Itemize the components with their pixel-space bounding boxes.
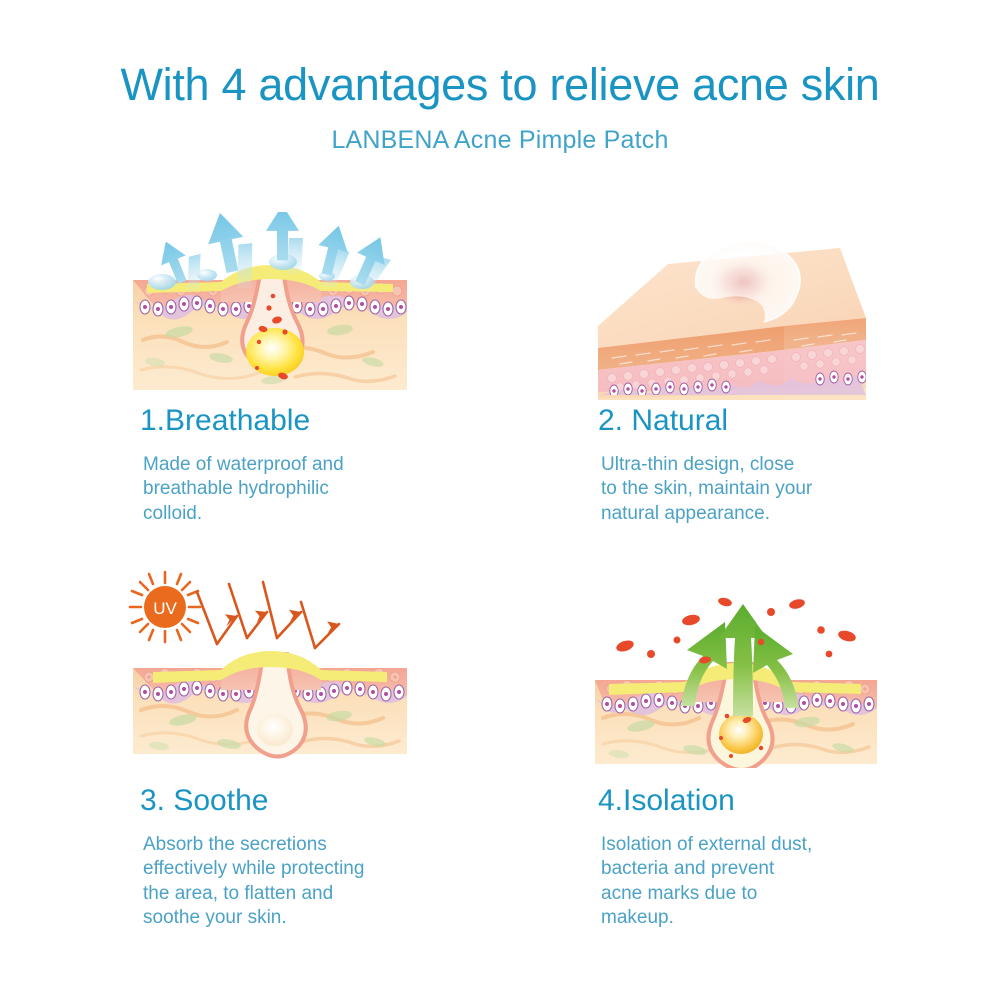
skin-cross-section-breathable-illustration	[125, 212, 415, 397]
feature-heading-soothe: 3. Soothe	[140, 786, 268, 816]
feature-card-natural: 2. Natural Ultra-thin design, close to t…	[500, 200, 1000, 560]
feature-heading-isolation: 4.Isolation	[598, 786, 735, 816]
feature-heading-breathable: 1.Breathable	[140, 406, 310, 436]
page-title: With 4 advantages to relieve acne skin	[0, 0, 1000, 107]
skin-cross-section-isolation-illustration	[585, 568, 885, 768]
feature-body-breathable: Made of waterproof and breathable hydrop…	[143, 453, 433, 526]
feature-card-soothe: UV 3. Soothe Absorb the secretions effec…	[0, 560, 500, 960]
feature-body-natural: Ultra-thin design, close to the skin, ma…	[601, 453, 891, 526]
feature-heading-natural: 2. Natural	[598, 406, 728, 436]
uv-ray-group	[197, 582, 339, 648]
skin-block-natural-patch-illustration	[590, 230, 880, 400]
feature-body-isolation: Isolation of external dust, bacteria and…	[601, 833, 891, 930]
header: With 4 advantages to relieve acne skin L…	[0, 0, 1000, 153]
skin-cross-section-uv-soothe-illustration: UV	[125, 568, 415, 768]
feature-card-isolation: 4.Isolation Isolation of external dust, …	[500, 560, 1000, 960]
feature-card-breathable: 1.Breathable Made of waterproof and brea…	[0, 200, 500, 560]
feature-body-soothe: Absorb the secretions effectively while …	[143, 833, 443, 930]
uv-label: UV	[153, 599, 177, 618]
page-subtitle: LANBENA Acne Pimple Patch	[0, 107, 1000, 153]
uv-sun-icon: UV	[130, 572, 200, 642]
